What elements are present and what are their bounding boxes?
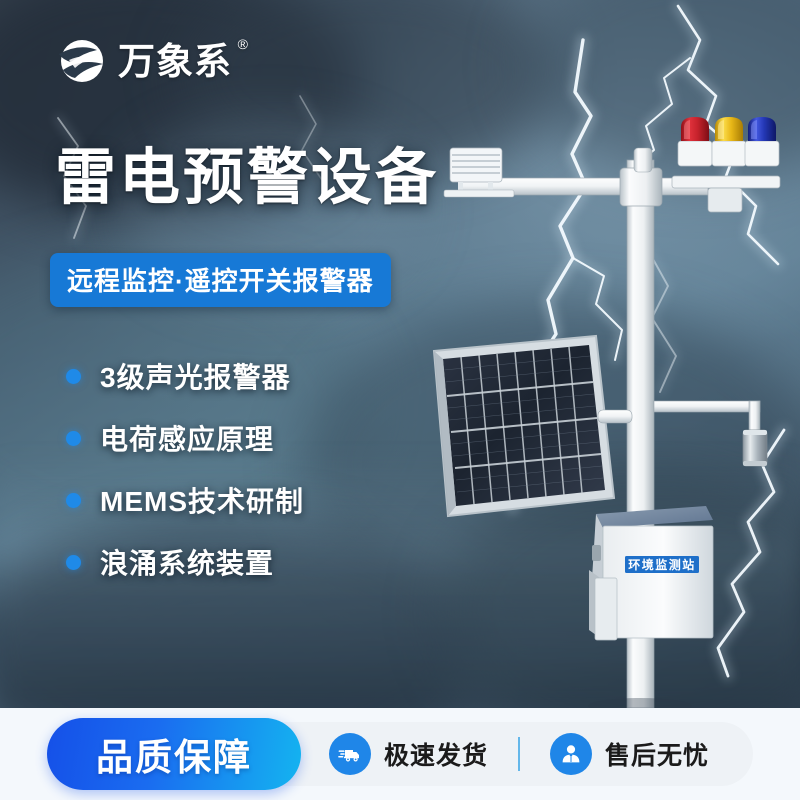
page-title: 雷电预警设备 — [55, 147, 439, 208]
list-item: 浪涌系统装置 — [66, 531, 304, 593]
quality-guarantee-label: 品质保障 — [96, 727, 252, 781]
feature-label: MEMS技术研制 — [100, 480, 304, 520]
trust-banner: 极速发货 售后无忧 品质保障 — [0, 708, 800, 800]
feature-label: 电荷感应原理 — [100, 418, 274, 458]
trust-label: 售后无忧 — [605, 736, 709, 772]
delivery-truck-icon — [329, 733, 371, 775]
trust-divider — [518, 737, 520, 771]
feature-label: 3级声光报警器 — [100, 356, 291, 396]
trust-label: 极速发货 — [384, 736, 488, 772]
list-item: 3级声光报警器 — [66, 345, 304, 407]
globe-swoosh-logo-icon — [57, 36, 107, 86]
bullet-dot-icon — [66, 369, 81, 384]
bullet-dot-icon — [66, 555, 81, 570]
quality-guarantee-badge[interactable]: 品质保障 — [47, 718, 301, 790]
list-item: MEMS技术研制 — [66, 469, 304, 531]
feature-label: 浪涌系统装置 — [100, 542, 274, 582]
hero-subtitle-badge: 远程监控·遥控开关报警器 — [50, 253, 391, 307]
brand-name-wrap: 万象系 ® — [118, 43, 232, 80]
customer-service-person-icon — [550, 733, 592, 775]
registered-mark: ® — [238, 37, 249, 51]
bullet-dot-icon — [66, 431, 81, 446]
trust-item-fast-shipping[interactable]: 极速发货 — [329, 733, 488, 775]
trust-item-after-sales[interactable]: 售后无忧 — [550, 733, 709, 775]
feature-list: 3级声光报警器 电荷感应原理 MEMS技术研制 浪涌系统装置 — [66, 345, 304, 593]
brand-logo: 万象系 ® — [57, 36, 232, 86]
storm-cloud — [520, 0, 800, 180]
brand-name: 万象系 — [118, 41, 232, 82]
poster-root: 环境监测站 万象系 ® 雷电预警设备 远程监控·遥控开关报警器 3级声光报警器 … — [0, 0, 800, 800]
list-item: 电荷感应原理 — [66, 407, 304, 469]
bullet-dot-icon — [66, 493, 81, 508]
